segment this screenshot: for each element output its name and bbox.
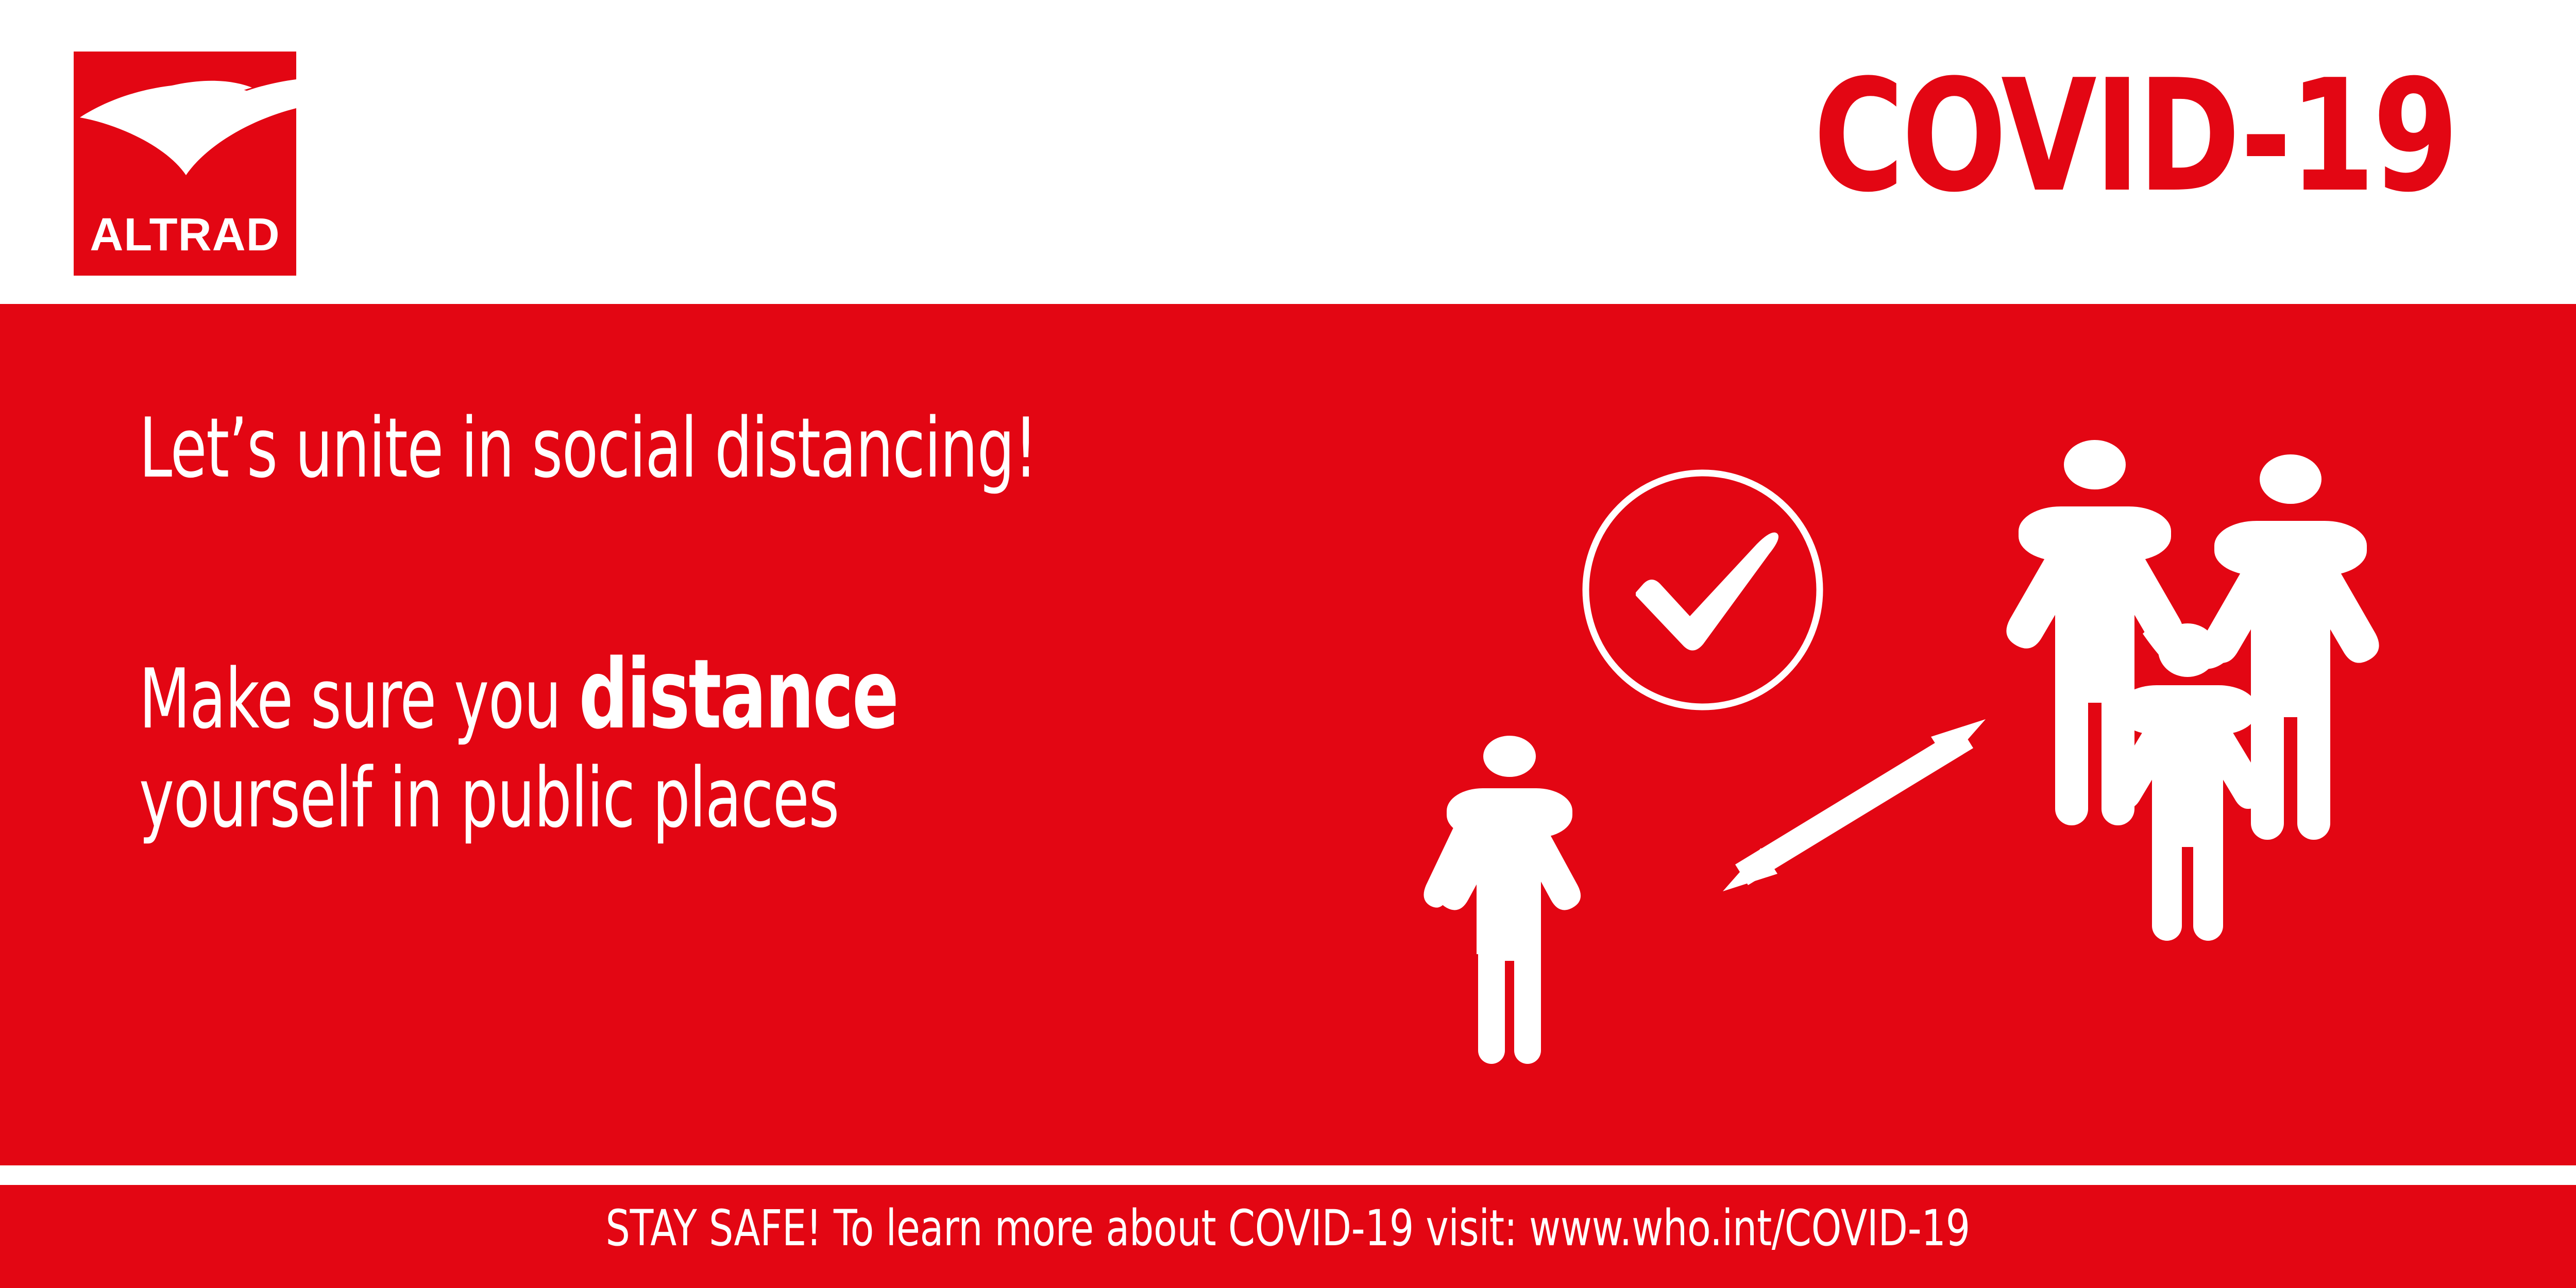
check-circle-icon [1586, 473, 1820, 707]
social-distancing-illustration [1417, 304, 2576, 1165]
poster-footer: STAY SAFE! To learn more about COVID-19 … [0, 1185, 2576, 1288]
body-line-1-emphasis: distance [579, 638, 897, 750]
headline: Let’s unite in social distancing! [139, 407, 1178, 489]
main-red-band: Let’s unite in social distancing! Make s… [0, 304, 2576, 1165]
family-group-icon [2006, 440, 2379, 941]
altrad-bird-logo-icon [74, 72, 296, 183]
page-title: COVID-19 [1814, 61, 2456, 212]
covid19-social-distancing-poster: ALTRAD COVID-19 Let’s unite in social di… [0, 0, 2576, 1288]
body-line-2: yourself in public places [139, 757, 1178, 839]
white-divider [0, 1165, 2576, 1185]
altrad-logo: ALTRAD [74, 52, 296, 276]
body-line-1: Make sure you distance [139, 647, 1178, 742]
footer-message: STAY SAFE! To learn more about COVID-19 … [0, 1204, 2576, 1253]
body-line-1-prefix: Make sure you [139, 651, 579, 747]
poster-header: ALTRAD COVID-19 [0, 0, 2576, 304]
person-standing-icon [1424, 736, 1581, 1064]
footer-message-text: STAY SAFE! To learn more about COVID-19 … [606, 1204, 1970, 1253]
double-headed-arrow-icon [1723, 719, 1986, 891]
message-copy: Let’s unite in social distancing! Make s… [139, 407, 1582, 839]
altrad-wordmark: ALTRAD [74, 212, 296, 258]
